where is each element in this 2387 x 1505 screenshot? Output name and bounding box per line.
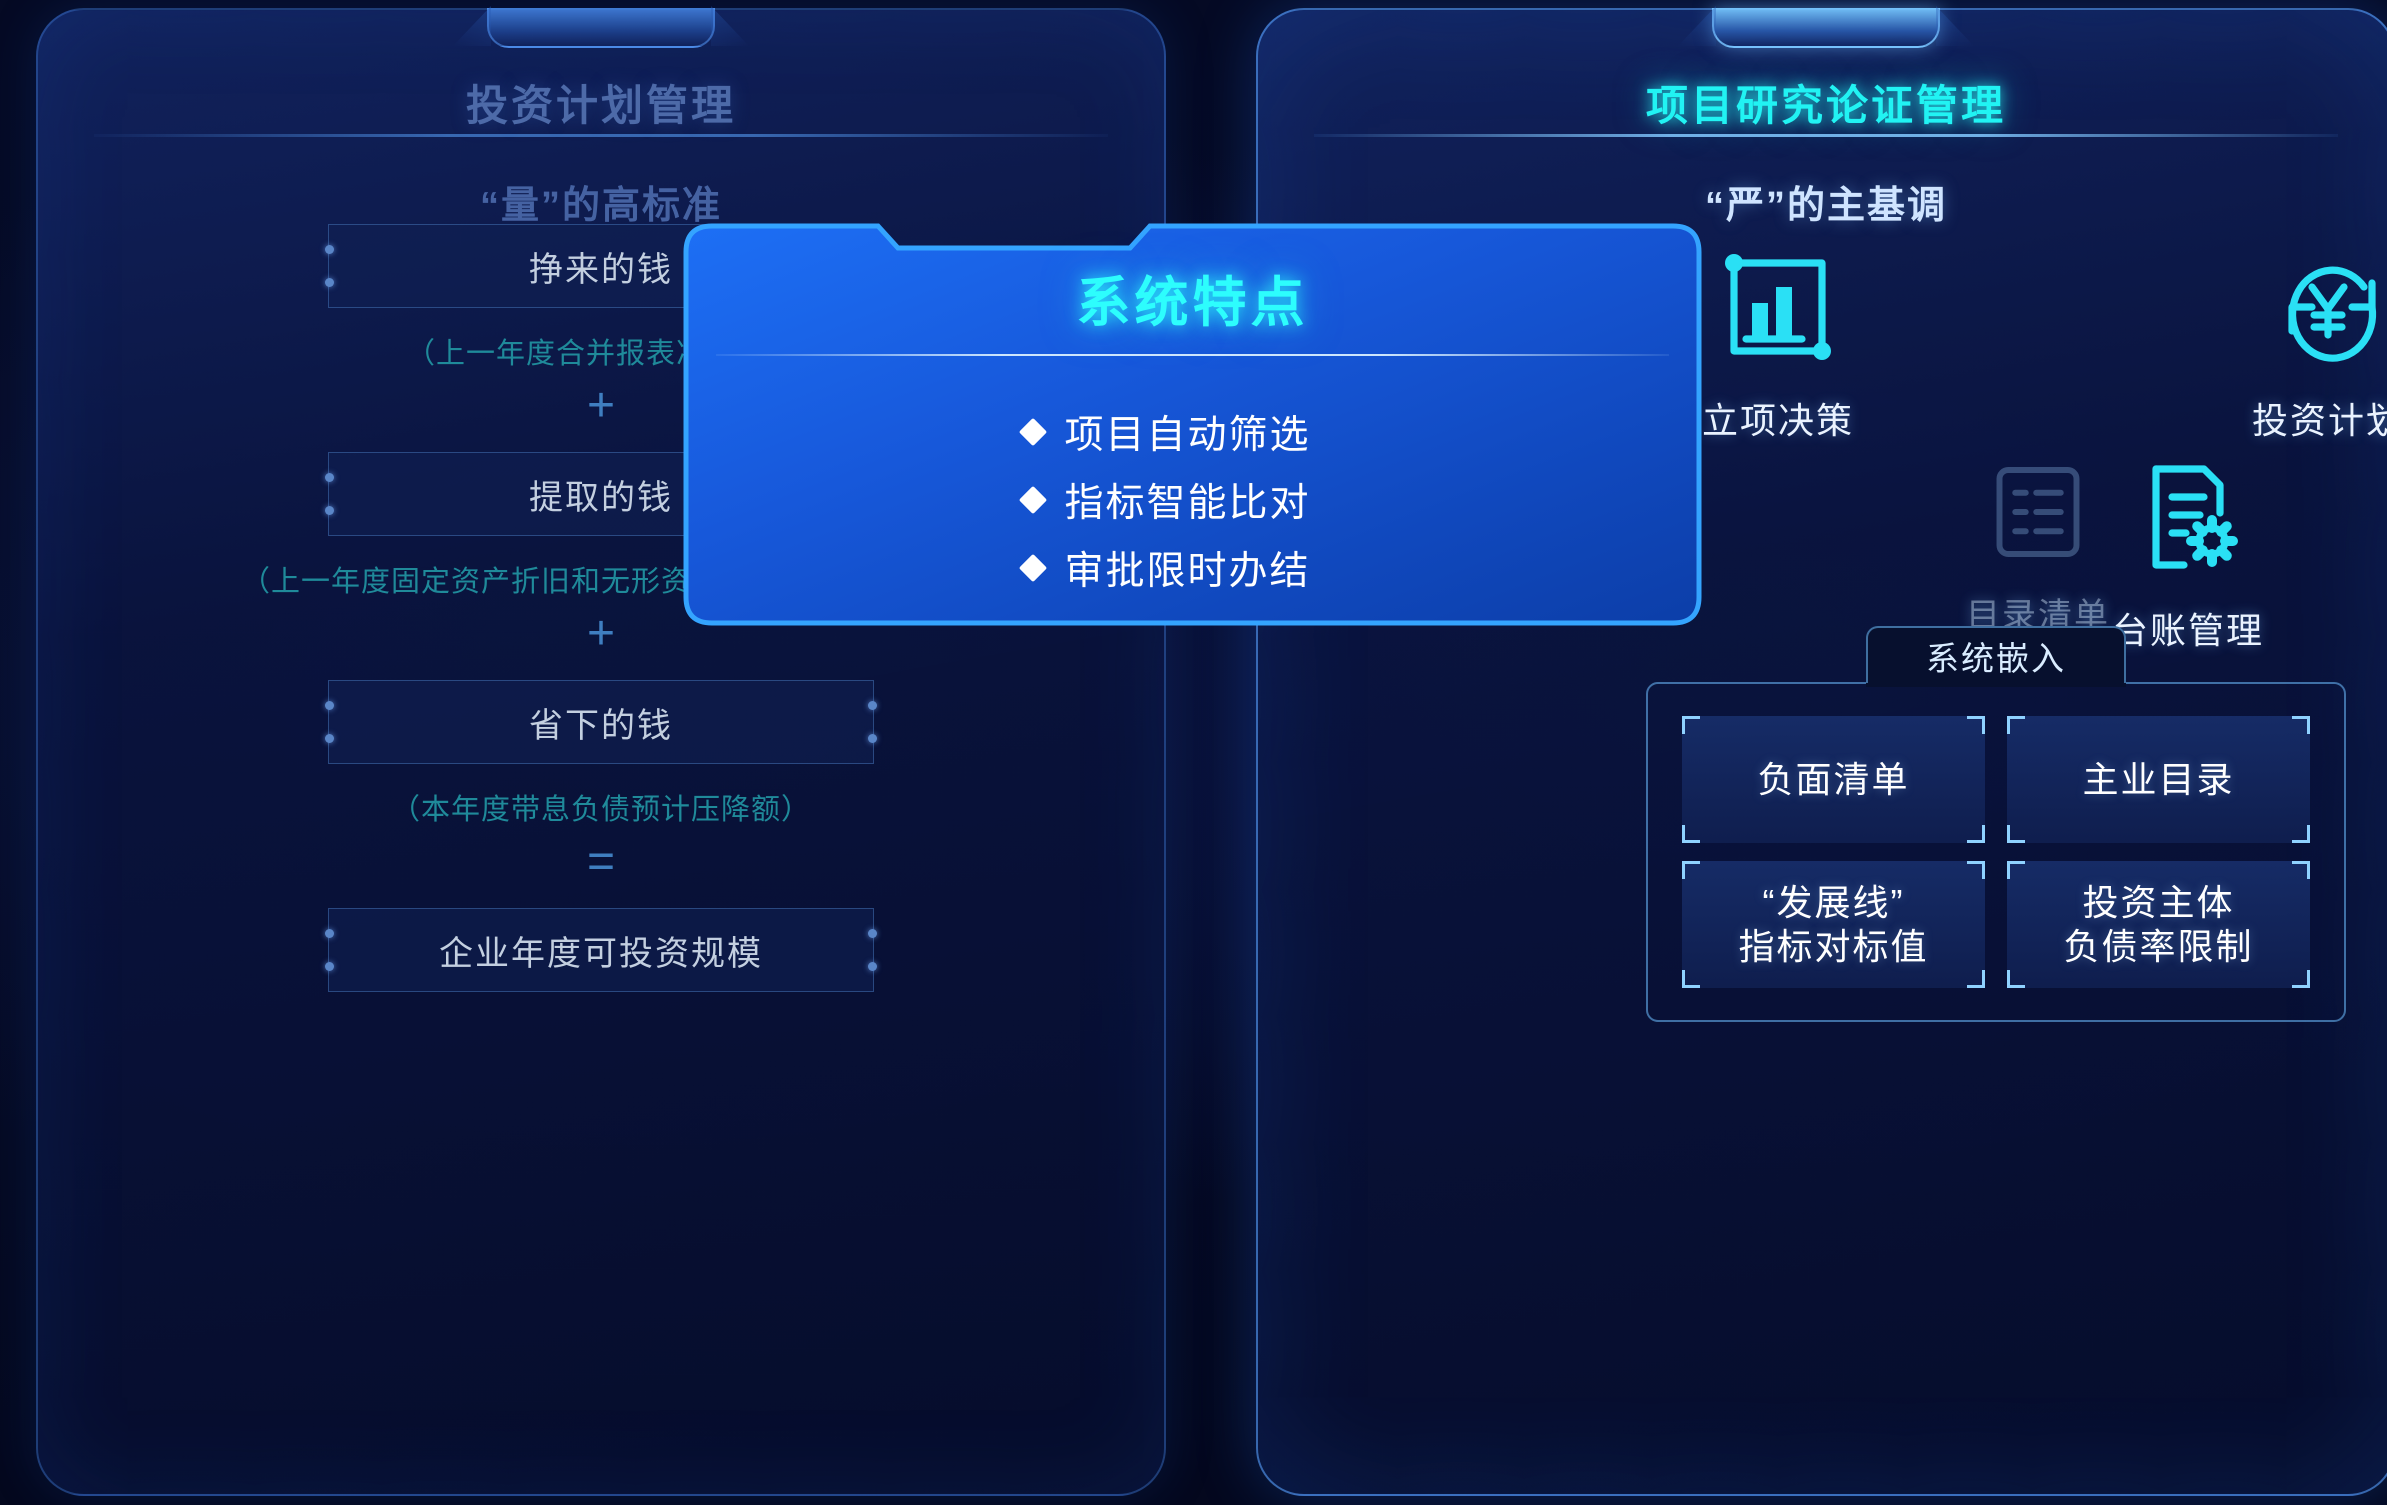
- pin-icon: [868, 701, 877, 710]
- corner-bracket-icon: [2292, 861, 2310, 879]
- icon-label: 投资计划: [2198, 392, 2387, 444]
- embed-card-negative-list[interactable]: 负面清单: [1682, 716, 1985, 843]
- embed-card-label-line1: 投资主体: [2082, 882, 2234, 923]
- list-item-label: 项目自动筛选: [1065, 404, 1311, 460]
- flow-operator: =: [38, 838, 1164, 886]
- corner-bracket-icon: [1967, 825, 1985, 843]
- pin-icon: [325, 701, 334, 710]
- corner-bracket-icon: [2007, 861, 2025, 879]
- corner-bracket-icon: [2007, 825, 2025, 843]
- list-item[interactable]: 指标智能比对: [1023, 472, 1363, 528]
- flow-box-label: 省下的钱: [529, 698, 673, 747]
- corner-bracket-icon: [1682, 825, 1700, 843]
- flow-box-label: 提取的钱: [529, 470, 673, 519]
- embed-card-label-line1: “发展线”: [1763, 882, 1905, 923]
- flow-box-result: 企业年度可投资规模: [328, 908, 874, 992]
- yen-refresh-icon: [2198, 232, 2387, 382]
- panel-title-divider-right: [1314, 134, 2338, 137]
- subhead-right: “严”的主基调: [1258, 174, 2387, 229]
- system-features-popup[interactable]: 系统特点 项目自动筛选 指标智能比对 审批限时办结: [660, 222, 1725, 627]
- panel-title-left: 投资计划管理: [38, 72, 1164, 133]
- list-item[interactable]: 项目自动筛选: [1023, 404, 1363, 460]
- list-item-label: 指标智能比对: [1065, 472, 1311, 528]
- corner-bracket-icon: [2007, 716, 2025, 734]
- popup-title: 系统特点: [660, 258, 1725, 337]
- system-embedding-label: 系统嵌入: [1866, 626, 2126, 684]
- diamond-bullet-icon: [1018, 554, 1046, 582]
- corner-bracket-icon: [2292, 716, 2310, 734]
- embed-card-label: 主业目录: [2082, 758, 2234, 802]
- diamond-bullet-icon: [1018, 418, 1046, 446]
- corner-bracket-icon: [1967, 970, 1985, 988]
- pin-icon: [325, 734, 334, 743]
- corner-bracket-icon: [1682, 716, 1700, 734]
- corner-bracket-icon: [2292, 825, 2310, 843]
- pin-icon: [325, 245, 334, 254]
- flow-box: 省下的钱: [328, 680, 874, 764]
- pin-icon: [325, 473, 334, 482]
- panel-notch-left: [487, 8, 715, 48]
- subhead-left: “量”的高标准: [38, 174, 1164, 229]
- embed-card-main-business-catalog[interactable]: 主业目录: [2007, 716, 2310, 843]
- pin-icon: [325, 278, 334, 287]
- corner-bracket-icon: [1967, 716, 1985, 734]
- flow-box-label: 挣来的钱: [529, 242, 673, 291]
- flow-note: （本年度带息负债预计压降额）: [38, 786, 1164, 828]
- list-item[interactable]: 审批限时办结: [1023, 540, 1363, 596]
- panel-title-divider-left: [94, 134, 1108, 137]
- system-features-content: 系统特点 项目自动筛选 指标智能比对 审批限时办结: [660, 222, 1725, 627]
- document-gear-icon: [2058, 442, 2318, 592]
- embed-card-label-line2: 指标对标值: [1738, 926, 1928, 967]
- embed-card-label-line2: 负债率限制: [2063, 926, 2253, 967]
- list-item-label: 审批限时办结: [1065, 540, 1311, 596]
- pin-icon: [868, 929, 877, 938]
- pin-icon: [325, 962, 334, 971]
- pin-icon: [325, 506, 334, 515]
- slide-canvas: 投资计划管理 “量”的高标准 挣来的钱 （上一年度合并报表净利润） + 提取的钱: [0, 0, 2387, 1505]
- panel-notch-right: [1712, 8, 1940, 48]
- pin-icon: [868, 962, 877, 971]
- corner-bracket-icon: [1682, 970, 1700, 988]
- icon-cell-investment-plan[interactable]: 投资计划: [2198, 232, 2387, 444]
- embed-card-development-line[interactable]: “发展线” 指标对标值: [1682, 861, 1985, 988]
- pin-icon: [868, 734, 877, 743]
- popup-feature-list: 项目自动筛选 指标智能比对 审批限时办结: [660, 404, 1725, 608]
- system-embedding-group: 系统嵌入 负面清单 主业目录: [1646, 682, 2346, 1022]
- system-embedding-card-grid: 负面清单 主业目录 “发展线” 指标对标值: [1682, 716, 2310, 988]
- panel-title-right: 项目研究论证管理: [1258, 72, 2387, 133]
- corner-bracket-icon: [2292, 970, 2310, 988]
- icon-cell-ledger-management[interactable]: 台账管理: [2058, 442, 2318, 654]
- diamond-bullet-icon: [1018, 486, 1046, 514]
- embed-card-label: 负面清单: [1757, 758, 1909, 802]
- popup-title-divider: [716, 354, 1669, 356]
- pin-icon: [325, 929, 334, 938]
- corner-bracket-icon: [1682, 861, 1700, 879]
- embed-card-investor-debt-limit[interactable]: 投资主体 负债率限制: [2007, 861, 2310, 988]
- flow-box-label: 企业年度可投资规模: [439, 926, 763, 975]
- corner-bracket-icon: [2007, 970, 2025, 988]
- corner-bracket-icon: [1967, 861, 1985, 879]
